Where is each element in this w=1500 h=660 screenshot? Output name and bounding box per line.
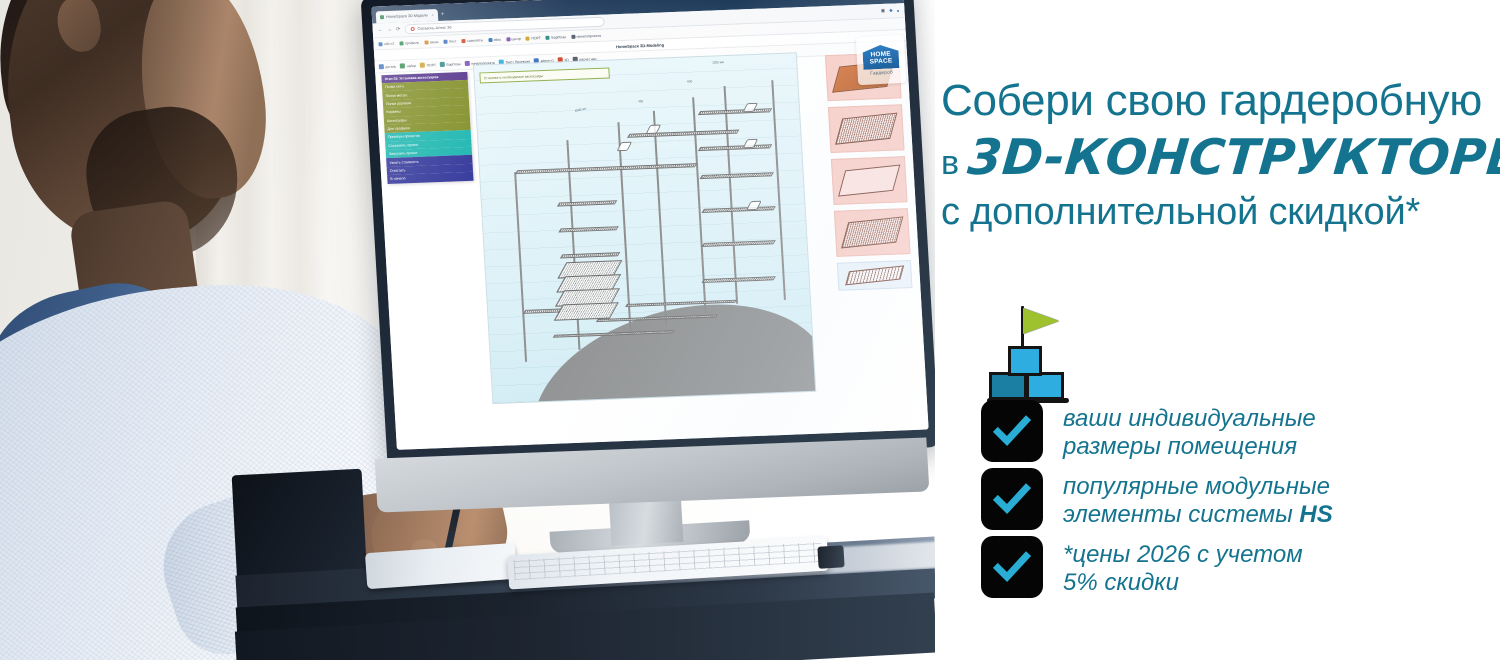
record-icon [410, 27, 414, 31]
profile-icon[interactable]: ◆ [889, 8, 893, 14]
headline-line-3: с дополнительной скидкой* [941, 192, 1497, 233]
keyboard-stand [817, 545, 844, 569]
thumbnail-art [838, 165, 900, 197]
feature-text: ваши индивидуальныеразмеры помещения [1063, 400, 1316, 462]
bookmark-item[interactable]: профиль [399, 40, 419, 45]
bookmark-label: БарПлан [551, 35, 566, 40]
headline-line-1: Собери свою гардеробную [941, 78, 1497, 125]
tab-close-icon[interactable]: × [431, 13, 433, 17]
dimension-label: 1200 мм [712, 60, 724, 64]
bookmark-label: началопроекта [576, 33, 601, 38]
bookmark-favicon [424, 40, 428, 44]
feature-text-line-2: 5% скидки [1063, 569, 1303, 597]
headline-line-2: в 3D-КОНСТРУКТОРЕ [941, 129, 1497, 186]
feature-item-3: *цены 2026 с учетом5% скидки [981, 536, 1451, 598]
bookmark-favicon [506, 37, 510, 41]
feature-text-line-1: ваши индивидуальные [1063, 405, 1316, 433]
toolbar-label: ПОРТ [427, 63, 436, 67]
toolbar-icon [400, 63, 405, 68]
bookmark-label: Лист [449, 39, 457, 43]
checkmark-icon [981, 468, 1043, 530]
feature-item-2: популярные модульныеэлементы системы HS [981, 468, 1451, 530]
bookmark-favicon [488, 37, 492, 41]
brand-abbreviation: HS [1299, 501, 1332, 528]
feature-text-line-1: популярные модульные [1063, 473, 1333, 501]
tab-favicon [380, 15, 384, 19]
toolbar-button[interactable]: деталь [379, 64, 397, 70]
toolbar-button[interactable]: ПОРТ [420, 62, 436, 68]
menu-icon[interactable]: ● [897, 8, 900, 13]
3d-viewport[interactable]: 1200 мм 4500 мм 600 450 [473, 52, 816, 404]
watermark-logo: HOME SPACE Гардероб [856, 35, 906, 85]
bookmark-favicon [443, 39, 447, 43]
block-top [1008, 346, 1042, 376]
product-thumbnails [825, 52, 913, 290]
toolbar-icon [464, 61, 469, 66]
bookmark-favicon [546, 35, 550, 39]
block-right [1026, 372, 1064, 400]
bookmark-label: atlas [493, 37, 501, 41]
headline: Собери свою гардеробную в 3D-КОНСТРУКТОР… [941, 78, 1497, 233]
bookmark-item[interactable]: БарПлан [546, 35, 566, 40]
bookmark-item[interactable]: Лист [443, 39, 456, 43]
feature-list: ваши индивидуальныеразмеры помещенияпопу… [981, 400, 1451, 604]
feature-text-line-1: *цены 2026 с учетом [1063, 541, 1303, 569]
promo-banner: HomeSpace 3D Модели × + − □ × ← → [0, 0, 1500, 660]
shield-icon: HOME SPACE [862, 44, 899, 70]
toolbar-icon [379, 64, 384, 69]
back-icon[interactable]: ← [378, 27, 384, 33]
app-sidebar: Этап 02: Установка аксессуаровПолки сетч… [381, 72, 473, 184]
feature-item-1: ваши индивидуальныеразмеры помещения [981, 400, 1451, 462]
dimension-label: 450 [638, 99, 643, 103]
checkmark-icon [981, 536, 1043, 598]
toolbar-icon [440, 62, 445, 67]
forward-icon[interactable]: → [387, 27, 393, 33]
bookmark-item[interactable]: центр [506, 36, 521, 41]
bookmark-label: самолёты [467, 38, 483, 43]
thumbnail-art [841, 216, 903, 248]
bookmark-favicon [571, 34, 575, 38]
feature-text: *цены 2026 с учетом5% скидки [1063, 536, 1303, 598]
url-text: Справочь-Алекс 3d [417, 26, 451, 31]
bookmark-favicon [378, 42, 382, 46]
basket-mesh-thumbnail[interactable] [828, 104, 905, 153]
tray-wire-thumbnail[interactable] [831, 156, 908, 205]
bookmark-label: заказ [430, 40, 439, 44]
tab-title: HomeSpace 3D Модели [386, 13, 428, 19]
rail-thumbnail[interactable] [837, 260, 913, 291]
thumbnail-art [835, 113, 897, 145]
bookmark-item[interactable]: wiki-г2 [378, 41, 394, 46]
toolbar-label: деталь [385, 64, 396, 68]
watermark-subtitle: Гардероб [870, 69, 893, 75]
bookmark-item[interactable]: atlas [488, 37, 501, 41]
headline-accent: 3D-КОНСТРУКТОРЕ [966, 129, 1500, 186]
bookmark-label: центр [511, 36, 521, 40]
bookmark-favicon [461, 38, 465, 42]
bookmark-label: профиль [405, 40, 420, 45]
new-tab-button[interactable]: + [441, 11, 445, 17]
imac-computer: HomeSpace 3D Модели × + − □ × ← → [374, 0, 934, 546]
browser-nav-right-icons: ▣ ◆ ● [881, 7, 900, 14]
workspace-photo: HomeSpace 3D Модели × + − □ × ← → [0, 0, 935, 660]
browser-window: HomeSpace 3D Модели × + − □ × ← → [371, 0, 928, 450]
bookmark-item[interactable]: ПОРТ [526, 36, 541, 41]
bookmark-label: ПОРТ [531, 36, 541, 40]
checkmark-icon [981, 400, 1043, 462]
bookmark-item[interactable]: самолёты [461, 38, 483, 43]
bookmark-favicon [526, 36, 530, 40]
extensions-icon[interactable]: ▣ [881, 8, 886, 14]
bookmark-favicon [399, 41, 403, 45]
monitor-screen: HomeSpace 3D Модели × + − □ × ← → [371, 0, 928, 450]
block-left [989, 372, 1027, 400]
toolbar-icon [420, 63, 425, 68]
thumbnail-art [845, 265, 904, 285]
bookmark-item[interactable]: началопроекта [571, 33, 601, 38]
toolbar-label: набор [407, 63, 417, 67]
shelf-mesh-thumbnail[interactable] [834, 208, 911, 257]
bookmark-item[interactable]: заказ [424, 40, 438, 45]
feature-text: популярные модульныеэлементы системы HS [1063, 468, 1333, 530]
toolbar-label: БарПлан [446, 62, 460, 67]
toolbar-button[interactable]: набор [400, 63, 416, 69]
bookmark-label: wiki-г2 [384, 41, 394, 45]
headline-prefix: в [941, 144, 959, 183]
feature-text-line-2: элементы системы HS [1063, 501, 1333, 529]
toolbar-button[interactable]: БарПлан [440, 61, 461, 67]
flag-icon [1023, 308, 1059, 334]
reload-icon[interactable]: ⟳ [396, 26, 401, 32]
feature-text-line-2: размеры помещения [1063, 433, 1316, 461]
blocks-flag-logo [981, 302, 1085, 398]
dimension-label: 600 [687, 79, 692, 83]
